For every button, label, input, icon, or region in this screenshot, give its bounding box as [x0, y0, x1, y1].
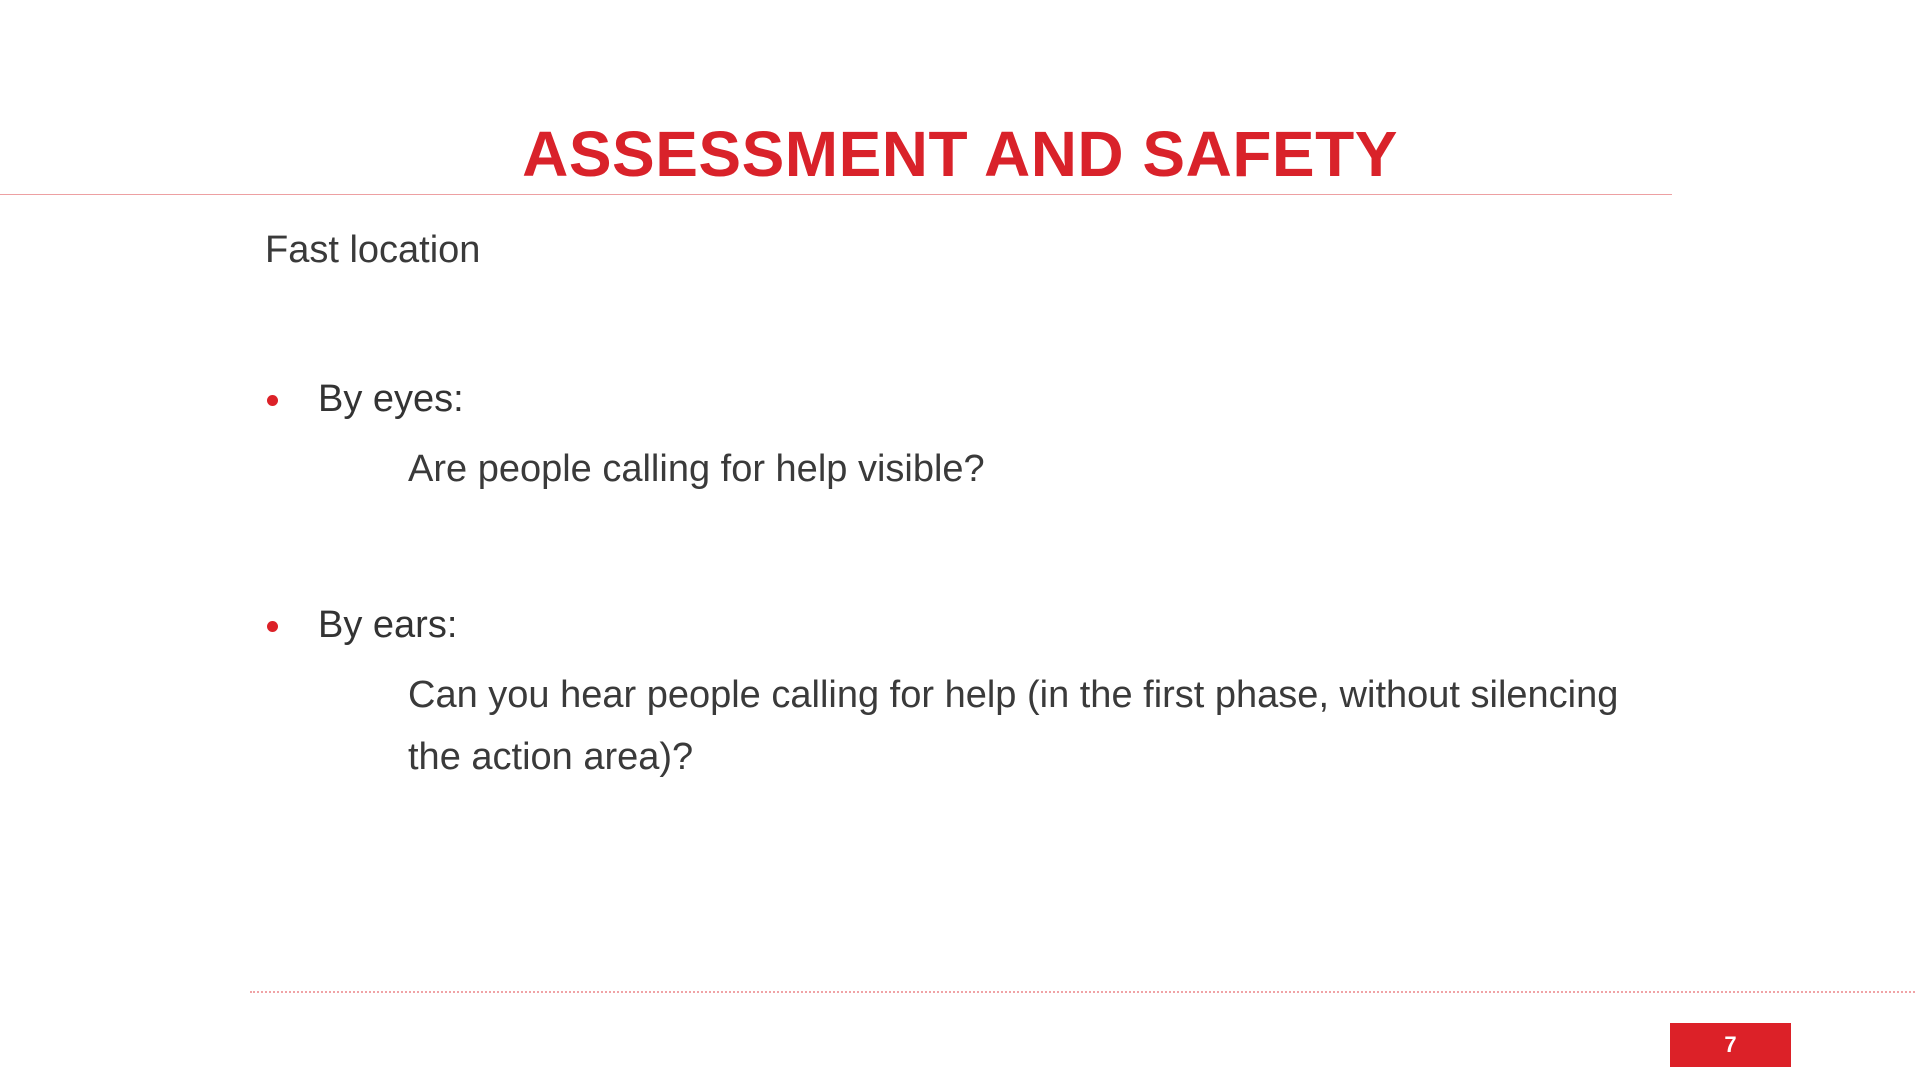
- bullet-detail-ears: Can you hear people calling for help (in…: [408, 665, 1668, 788]
- title-divider: [0, 194, 1672, 195]
- page-title: ASSESSMENT AND SAFETY: [0, 121, 1920, 188]
- bullet-group-eyes: By eyes: Are people calling for help vis…: [0, 375, 1920, 431]
- list-item: By ears:: [0, 601, 1920, 657]
- bullet-label-eyes: By eyes:: [318, 375, 464, 424]
- bullet-detail-eyes: Are people calling for help visible?: [408, 439, 1668, 501]
- bullet-label-ears: By ears:: [318, 601, 457, 650]
- bullet-group-ears: By ears: Can you hear people calling for…: [0, 601, 1920, 657]
- bullet-dot-icon: [267, 621, 278, 632]
- list-item: By eyes:: [0, 375, 1920, 431]
- lead-text: Fast location: [265, 225, 480, 276]
- page-number-text: 7: [1724, 1034, 1736, 1056]
- bullet-dot-icon: [267, 395, 278, 406]
- footer-divider: [250, 991, 1915, 993]
- page-number-badge: 7: [1670, 1023, 1791, 1067]
- slide-canvas: ASSESSMENT AND SAFETY Fast location By e…: [0, 0, 1920, 1080]
